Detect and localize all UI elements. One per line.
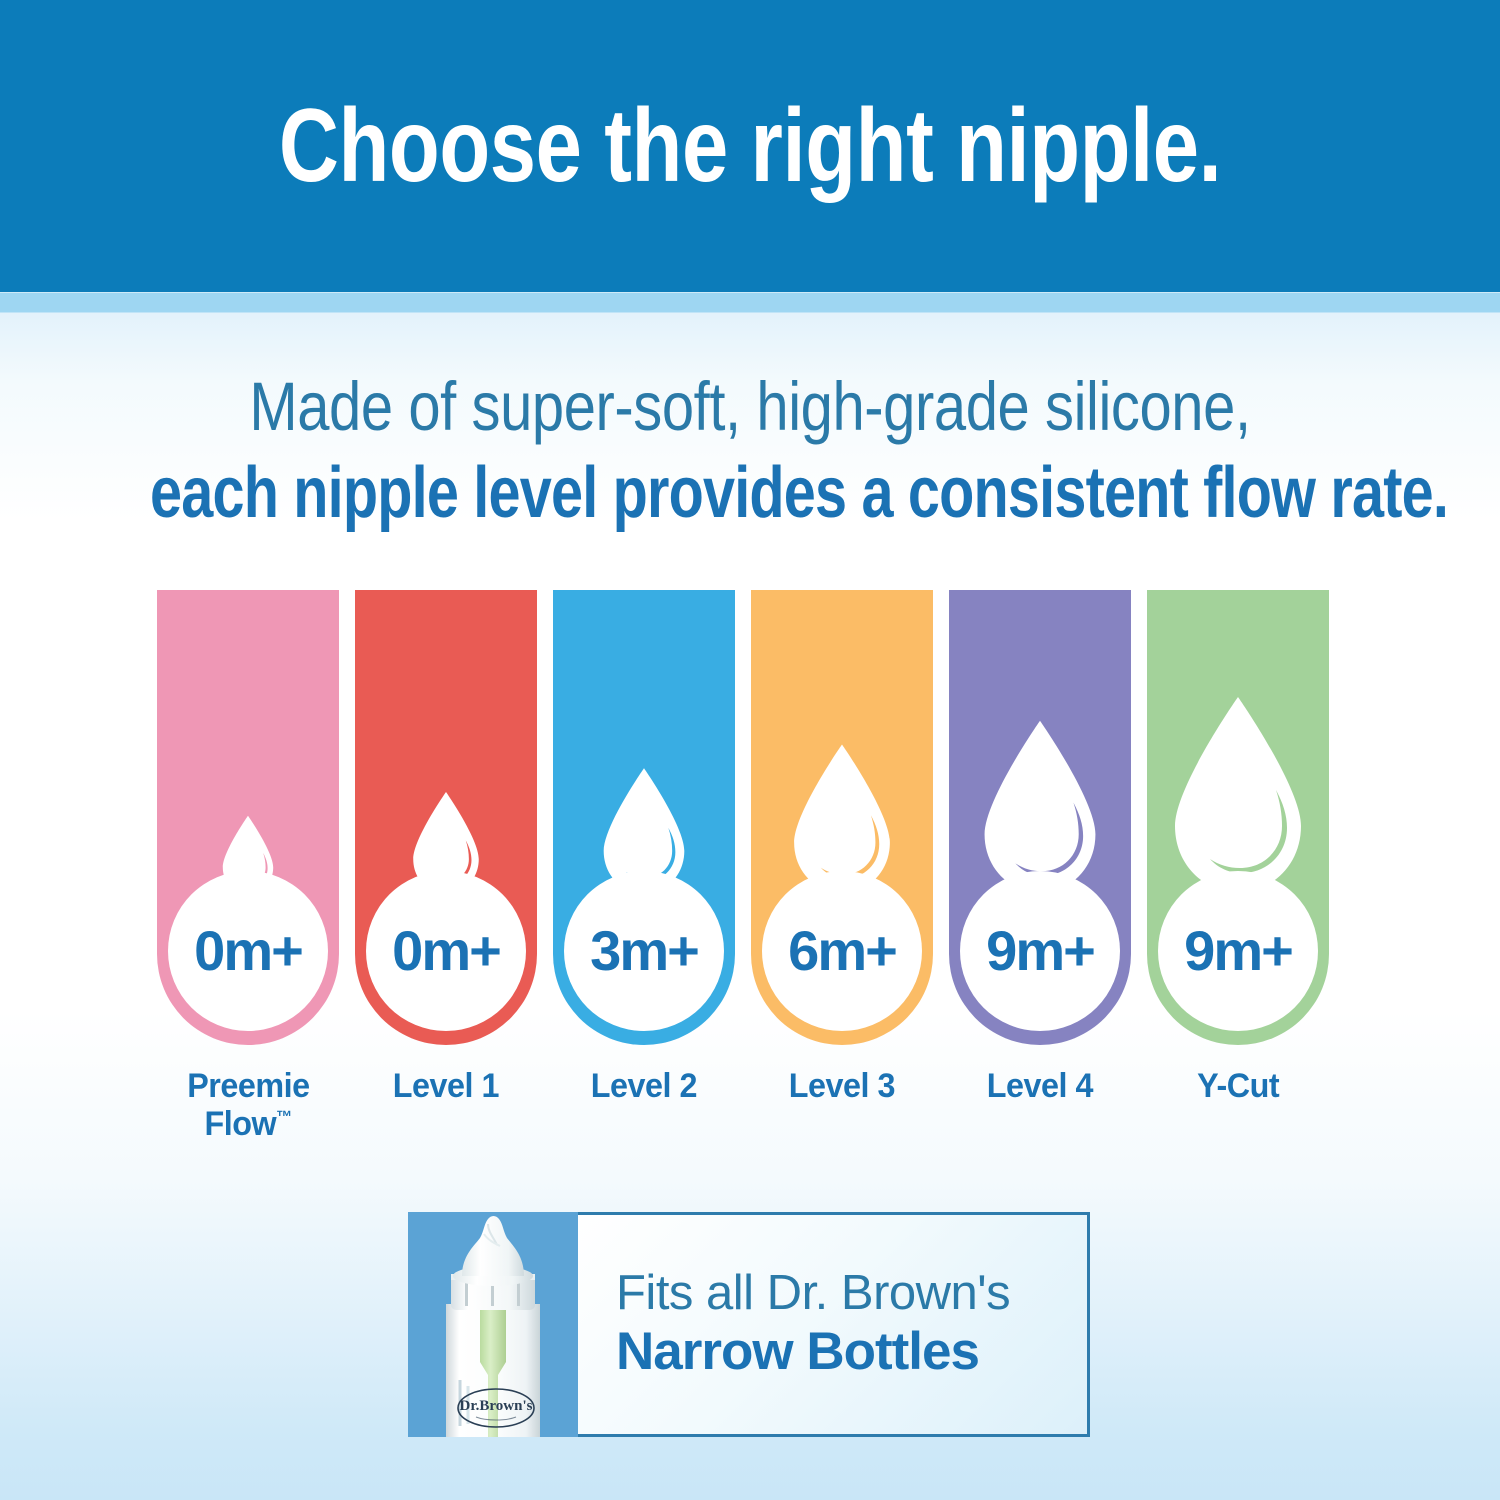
age-label: 6m+: [788, 923, 896, 979]
level-name-line-1: Level 3: [789, 1067, 895, 1105]
fits-line-1: Fits all Dr. Brown's: [616, 1266, 1087, 1321]
trademark-symbol: ™: [276, 1108, 292, 1127]
level-column-6[interactable]: 9m+Y-Cut: [1147, 590, 1329, 1143]
age-badge: 9m+: [960, 871, 1120, 1031]
level-swatch: 0m+: [157, 590, 339, 1045]
level-name-label: PreemieFlow™: [187, 1067, 309, 1143]
level-name-line-1: Y-Cut: [1197, 1067, 1279, 1105]
water-drop-icon: [1163, 695, 1313, 895]
nipple-level-row: 0m+PreemieFlow™0m+Level 13m+Level 26m+Le…: [157, 590, 1343, 1143]
level-name-label: Y-Cut: [1197, 1067, 1279, 1105]
level-swatch: 6m+: [751, 590, 933, 1045]
subtitle-line-1: Made of super-soft, high-grade silicone,: [120, 368, 1380, 445]
level-name-line-1: Preemie: [187, 1067, 309, 1105]
water-drop-icon: [974, 719, 1106, 895]
level-swatch: 9m+: [949, 590, 1131, 1045]
level-name-label: Level 2: [591, 1067, 697, 1105]
level-column-5[interactable]: 9m+Level 4: [949, 590, 1131, 1143]
level-name-label: Level 3: [789, 1067, 895, 1105]
infographic-page: Choose the right nipple. Made of super-s…: [0, 0, 1500, 1500]
level-name-line-1: Level 2: [591, 1067, 697, 1105]
level-column-3[interactable]: 3m+Level 2: [553, 590, 735, 1143]
level-column-4[interactable]: 6m+Level 3: [751, 590, 933, 1143]
level-name-line-1: Level 1: [393, 1067, 499, 1105]
age-label: 3m+: [590, 923, 698, 979]
header-banner: Choose the right nipple.: [0, 0, 1500, 292]
age-label: 0m+: [392, 923, 500, 979]
level-name-line-2: Flow: [204, 1105, 276, 1143]
age-label: 9m+: [1184, 923, 1292, 979]
level-column-1[interactable]: 0m+PreemieFlow™: [157, 590, 339, 1143]
age-badge: 9m+: [1158, 871, 1318, 1031]
bottle-image-panel: Dr.Brown's: [408, 1212, 578, 1437]
fits-all-card: Dr.Brown's Fits all Dr. Brown's Narrow B…: [408, 1212, 1090, 1437]
droplet-container: [949, 610, 1131, 895]
dr-browns-bottle-icon: Dr.Brown's: [418, 1212, 568, 1437]
level-swatch: 0m+: [355, 590, 537, 1045]
droplet-container: [553, 610, 735, 895]
age-badge: 6m+: [762, 871, 922, 1031]
level-swatch: 9m+: [1147, 590, 1329, 1045]
droplet-container: [1147, 610, 1329, 895]
fits-text-box: Fits all Dr. Brown's Narrow Bottles: [578, 1212, 1090, 1437]
droplet-container: [157, 610, 339, 895]
subtitle-line-2: each nipple level provides a consistent …: [150, 451, 1350, 536]
subtitle-block: Made of super-soft, high-grade silicone,…: [0, 368, 1500, 536]
age-badge: 0m+: [366, 871, 526, 1031]
level-column-2[interactable]: 0m+Level 1: [355, 590, 537, 1143]
level-name-label: Level 4: [987, 1067, 1093, 1105]
droplet-container: [355, 610, 537, 895]
age-badge: 3m+: [564, 871, 724, 1031]
level-name-line-1: Level 4: [987, 1067, 1093, 1105]
age-label: 9m+: [986, 923, 1094, 979]
age-label: 0m+: [194, 923, 302, 979]
fits-line-2: Narrow Bottles: [616, 1322, 1087, 1383]
level-name-label: Level 1: [393, 1067, 499, 1105]
level-swatch: 3m+: [553, 590, 735, 1045]
bottle-logo-text: Dr.Brown's: [460, 1398, 533, 1414]
page-title: Choose the right nipple.: [279, 94, 1222, 198]
age-badge: 0m+: [168, 871, 328, 1031]
droplet-container: [751, 610, 933, 895]
